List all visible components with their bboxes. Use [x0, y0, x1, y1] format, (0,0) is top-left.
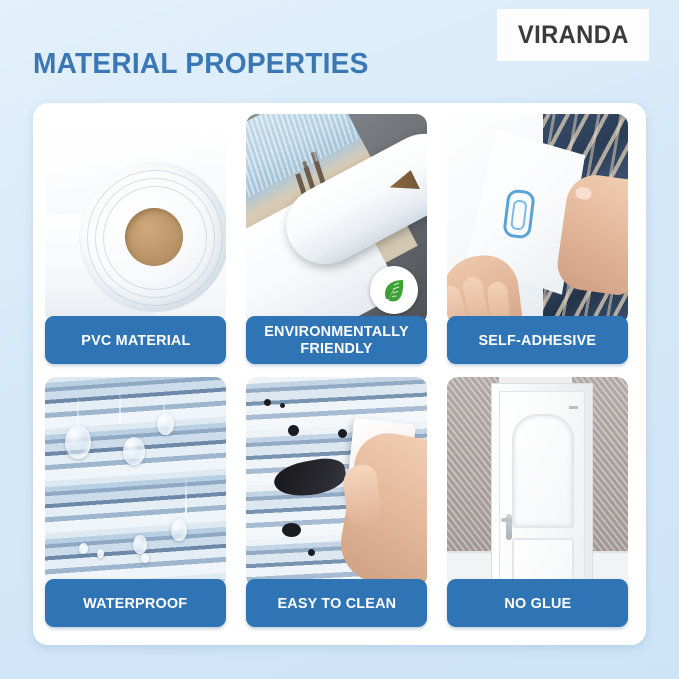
feature-label-no-glue: NO GLUE [447, 579, 628, 627]
stain-spot [338, 429, 347, 438]
water-droplet [97, 549, 104, 558]
feature-label-text: WATERPROOF [80, 595, 192, 612]
brand-logo-text: VIRANDA [518, 21, 629, 50]
stain-smear [271, 454, 348, 501]
water-droplet [65, 425, 91, 459]
feature-tile-self-adhesive[interactable]: SELF-ADHESIVE [447, 114, 628, 364]
wallpaper-curl-edge [390, 166, 426, 202]
water-droplet [171, 519, 187, 541]
feature-tile-easy-to-clean[interactable]: EASY TO CLEAN [246, 377, 427, 627]
stain-spot [280, 403, 285, 408]
feature-tile-waterproof[interactable]: WATERPROOF [45, 377, 226, 627]
water-droplet [123, 437, 145, 465]
feature-label-waterproof: WATERPROOF [45, 579, 226, 627]
droplet-trail [119, 387, 121, 423]
feature-tile-pvc-material[interactable]: PVC MATERIAL [45, 114, 226, 364]
features-grid: PVC MATERIAL [45, 114, 628, 627]
droplet-trail [185, 473, 187, 515]
leaf-icon [370, 266, 418, 314]
page-title: MATERIAL PROPERTIES [33, 48, 369, 81]
water-droplet [141, 553, 149, 563]
waterproof-droplets-image [45, 377, 226, 587]
stain-spot [308, 549, 315, 556]
door-handle [506, 514, 512, 540]
feature-label-environmentally-friendly: ENVIRONMENTALLY FRIENDLY [246, 316, 427, 364]
fingernail-shape [575, 186, 593, 200]
infographic-page: { "header": { "title": "MATERIAL PROPERT… [0, 0, 679, 679]
feature-label-text: SELF-ADHESIVE [475, 332, 600, 349]
stain-spot [288, 425, 299, 436]
stain-spot [264, 399, 271, 406]
pvc-roll-cardboard-core [125, 208, 183, 266]
no-glue-door-image [447, 377, 628, 587]
door-hinge [569, 406, 578, 409]
water-droplet [79, 543, 88, 554]
feature-label-text: EASY TO CLEAN [273, 595, 399, 612]
brand-logo-box: VIRANDA [498, 10, 648, 60]
feature-tile-no-glue[interactable]: NO GLUE [447, 377, 628, 627]
features-card: PVC MATERIAL [33, 103, 646, 645]
water-droplet [133, 535, 147, 554]
water-droplet [157, 413, 174, 435]
feature-label-easy-to-clean: EASY TO CLEAN [246, 579, 427, 627]
feature-label-self-adhesive: SELF-ADHESIVE [447, 316, 628, 364]
stain-spot [282, 523, 301, 537]
easy-to-clean-image [246, 377, 427, 587]
thumb-shape [342, 463, 382, 528]
door-panel-top [512, 414, 574, 528]
feature-label-pvc-material: PVC MATERIAL [45, 316, 226, 364]
self-adhesive-peel-image [447, 114, 628, 324]
feature-label-text: NO GLUE [500, 595, 575, 612]
feature-tile-environmentally-friendly[interactable]: ENVIRONMENTALLY FRIENDLY [246, 114, 427, 364]
feature-label-text: PVC MATERIAL [77, 332, 194, 349]
eco-wallpaper-roll-image [246, 114, 427, 324]
door-leaf [499, 391, 585, 587]
hand-shape [335, 428, 427, 587]
pvc-roll-image [45, 114, 226, 324]
feature-label-text: ENVIRONMENTALLY FRIENDLY [250, 323, 424, 357]
